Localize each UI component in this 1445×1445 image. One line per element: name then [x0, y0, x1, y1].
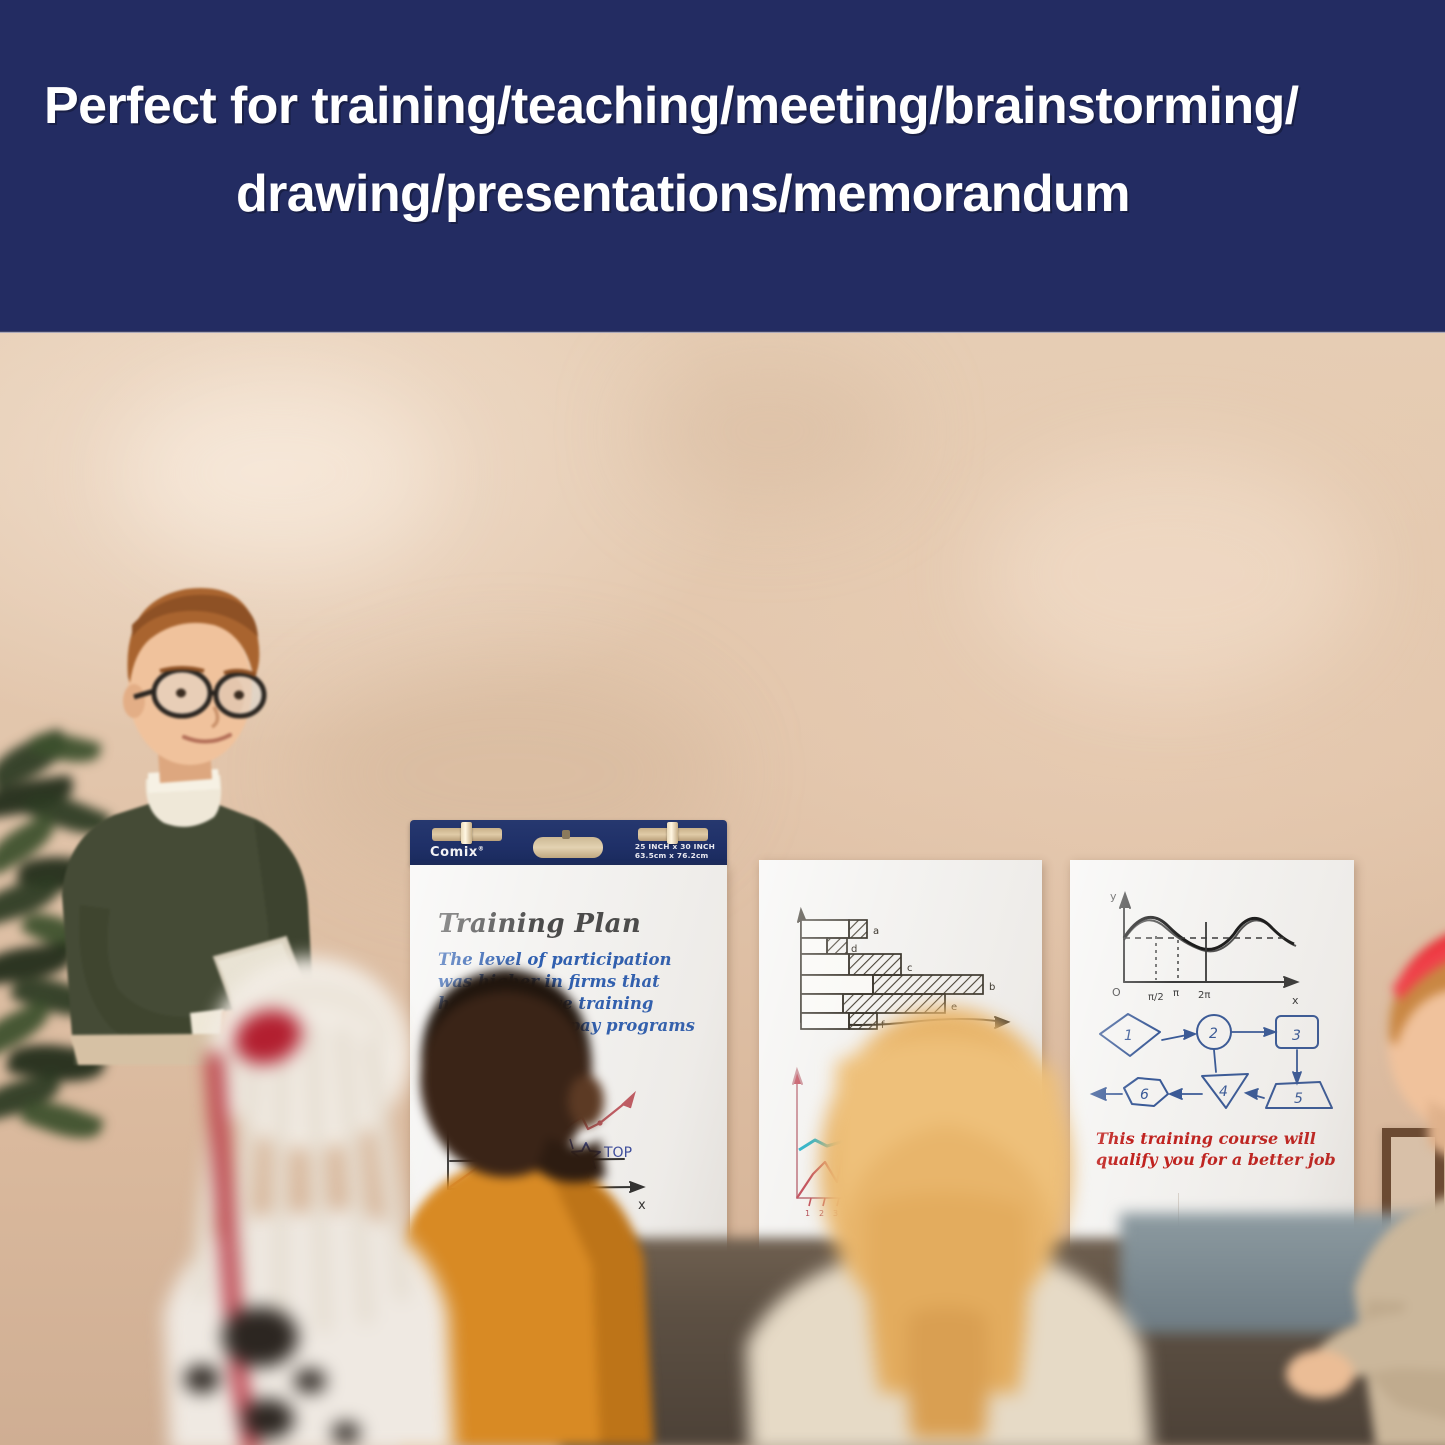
- red-beanie-attendee: [1280, 888, 1445, 1445]
- headline-text-block: Perfect for training/teaching/meeting/br…: [0, 62, 1445, 238]
- wall-texture-blob: [120, 373, 440, 573]
- handle-pin: [562, 830, 570, 839]
- flow-node-label: 2: [1209, 1026, 1218, 1042]
- wall-texture-blob: [640, 351, 900, 511]
- photo-scene: Comix® 25 INCH x 30 INCH 63.5cm x 76.2cm…: [0, 333, 1445, 1445]
- sheet3-y-axis-label: y: [1110, 890, 1117, 903]
- headline-line-1: Perfect for training/teaching/meeting/br…: [44, 62, 1401, 150]
- brand-logo: Comix®: [430, 845, 484, 860]
- sheet2-bar-label: c: [907, 963, 913, 974]
- sheet3-tick-two-pi: 2π: [1198, 990, 1210, 1001]
- flow-node-label: 4: [1219, 1084, 1228, 1100]
- wall-texture-blob: [980, 453, 1360, 693]
- size-imperial: 25 INCH x 30 INCH: [635, 842, 715, 851]
- headline-line-2: drawing/presentations/memorandum: [44, 150, 1401, 238]
- pad-size-label: 25 INCH x 30 INCH 63.5cm x 76.2cm: [635, 842, 715, 860]
- sheet2-bar-label: b: [989, 982, 995, 993]
- product-marketing-image: Perfect for training/teaching/meeting/br…: [0, 0, 1445, 1445]
- blonde-attendee: [740, 993, 1180, 1445]
- sheet2-bar-label: a: [873, 926, 879, 937]
- brand-name: Comix: [430, 845, 478, 860]
- size-metric: 63.5cm x 76.2cm: [635, 851, 715, 860]
- pad-header-bar: Comix® 25 INCH x 30 INCH 63.5cm x 76.2cm: [410, 820, 727, 866]
- carry-handle: [533, 837, 603, 858]
- clip-nub-left: [461, 822, 472, 844]
- sheet2-bar-label: d: [851, 944, 857, 955]
- braided-hair-attendee: [140, 933, 520, 1445]
- clip-nub-right: [667, 822, 678, 844]
- trademark-symbol: ®: [478, 846, 485, 853]
- headline-banner: Perfect for training/teaching/meeting/br…: [0, 0, 1445, 333]
